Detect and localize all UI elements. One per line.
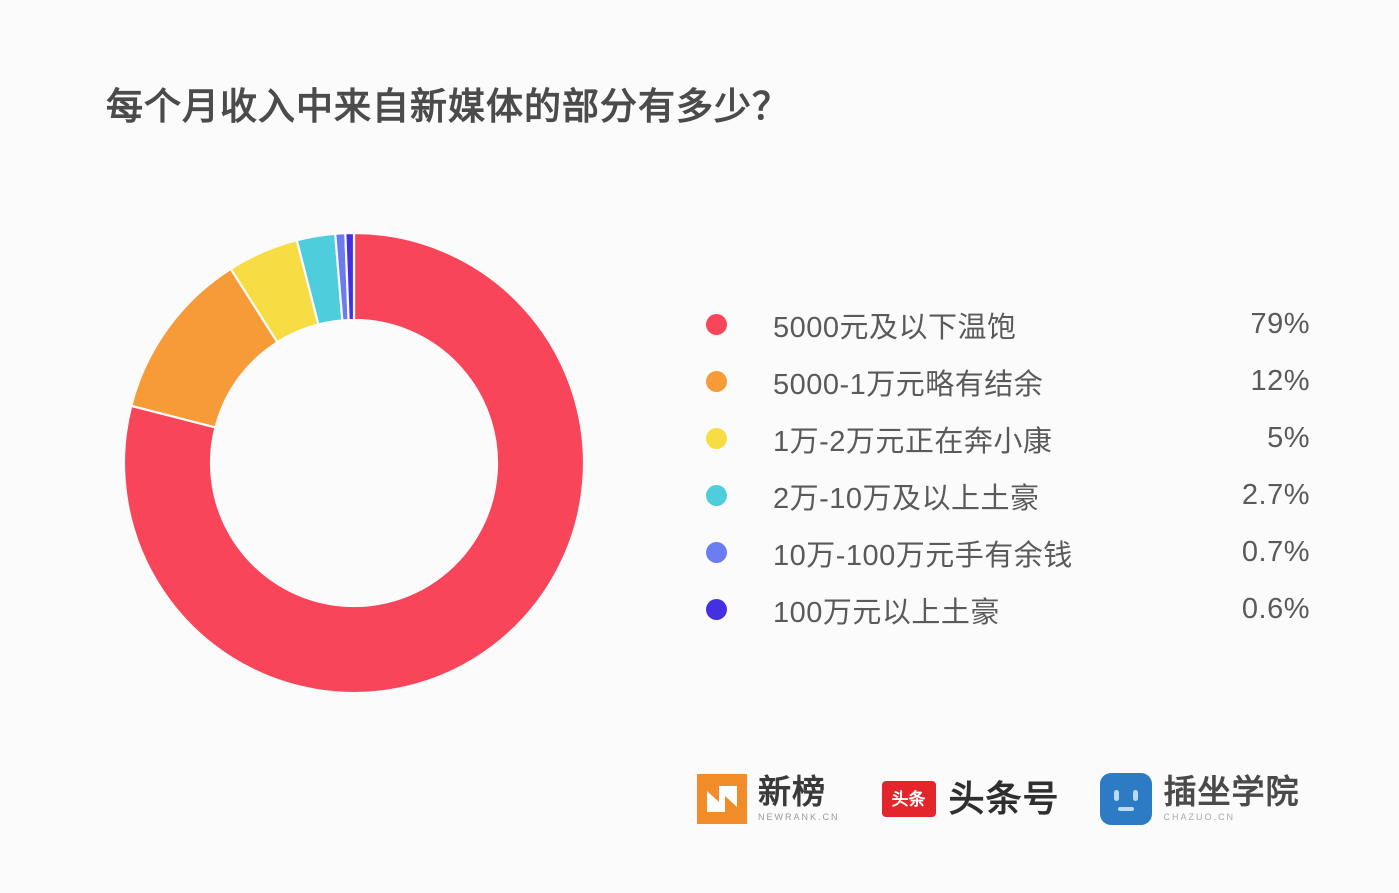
- legend-item-value: 79%: [1200, 308, 1310, 341]
- newrank-name: 新榜: [758, 775, 840, 809]
- legend-item-label: 1万-2万元正在奔小康: [773, 418, 1052, 460]
- donut-slices: [124, 233, 584, 693]
- legend-item-value: 0.7%: [1200, 536, 1310, 569]
- newrank-mark-icon: [697, 774, 747, 824]
- legend-color-swatch: [706, 428, 727, 449]
- slide-root: 每个月收入中来自新媒体的部分有多少？ 5000元及以下温饱79%5000-1万元…: [0, 0, 1399, 893]
- legend-item-value: 12%: [1200, 365, 1310, 398]
- legend-item-label: 5000-1万元略有结余: [773, 361, 1043, 403]
- legend-color-swatch: [706, 485, 727, 506]
- footer-logo-bar: 新榜 NEWRANK.CN 头条 头条号 插坐学院 CHAZUO.CN: [697, 773, 1300, 825]
- legend-item[interactable]: 5000-1万元略有结余12%: [706, 353, 1310, 410]
- legend-item[interactable]: 10万-100万元手有余钱0.7%: [706, 524, 1310, 581]
- donut-chart: [118, 227, 590, 699]
- logo-toutiaohao: 头条 头条号: [882, 780, 1060, 818]
- legend-item[interactable]: 5000元及以下温饱79%: [706, 296, 1310, 353]
- chazuo-eye-right: [1133, 790, 1138, 801]
- logo-chazuo: 插坐学院 CHAZUO.CN: [1100, 773, 1300, 825]
- logo-newrank: 新榜 NEWRANK.CN: [697, 774, 840, 824]
- legend-item-value: 5%: [1200, 422, 1310, 455]
- legend-item[interactable]: 2万-10万及以上土豪2.7%: [706, 467, 1310, 524]
- newrank-text: 新榜 NEWRANK.CN: [758, 775, 840, 823]
- toutiao-mark-icon: 头条: [882, 781, 936, 817]
- page-title: 每个月收入中来自新媒体的部分有多少？: [106, 84, 790, 130]
- legend-color-swatch: [706, 542, 727, 563]
- legend-color-swatch: [706, 599, 727, 620]
- toutiao-badge-text: 头条: [892, 791, 926, 808]
- chazuo-name: 插坐学院: [1164, 775, 1300, 809]
- chazuo-domain: CHAZUO.CN: [1164, 811, 1300, 823]
- newrank-domain: NEWRANK.CN: [758, 811, 840, 823]
- chazuo-mark-icon: [1100, 773, 1152, 825]
- legend-color-swatch: [706, 314, 727, 335]
- legend-item-label: 5000元及以下温饱: [773, 304, 1017, 346]
- legend-item-label: 10万-100万元手有余钱: [773, 532, 1073, 574]
- chazuo-eye-left: [1114, 790, 1119, 801]
- legend-item-label: 2万-10万及以上土豪: [773, 475, 1040, 517]
- legend-item-value: 0.6%: [1200, 593, 1310, 626]
- legend-color-swatch: [706, 371, 727, 392]
- chazuo-text: 插坐学院 CHAZUO.CN: [1164, 775, 1300, 823]
- legend-item[interactable]: 1万-2万元正在奔小康5%: [706, 410, 1310, 467]
- legend-item-value: 2.7%: [1200, 479, 1310, 512]
- toutiaohao-name: 头条号: [949, 780, 1060, 818]
- chazuo-mouth: [1118, 807, 1134, 811]
- chart-legend: 5000元及以下温饱79%5000-1万元略有结余12%1万-2万元正在奔小康5…: [706, 296, 1310, 638]
- legend-item-label: 100万元以上土豪: [773, 589, 1000, 631]
- donut-chart-svg: [118, 227, 590, 699]
- legend-item[interactable]: 100万元以上土豪0.6%: [706, 581, 1310, 638]
